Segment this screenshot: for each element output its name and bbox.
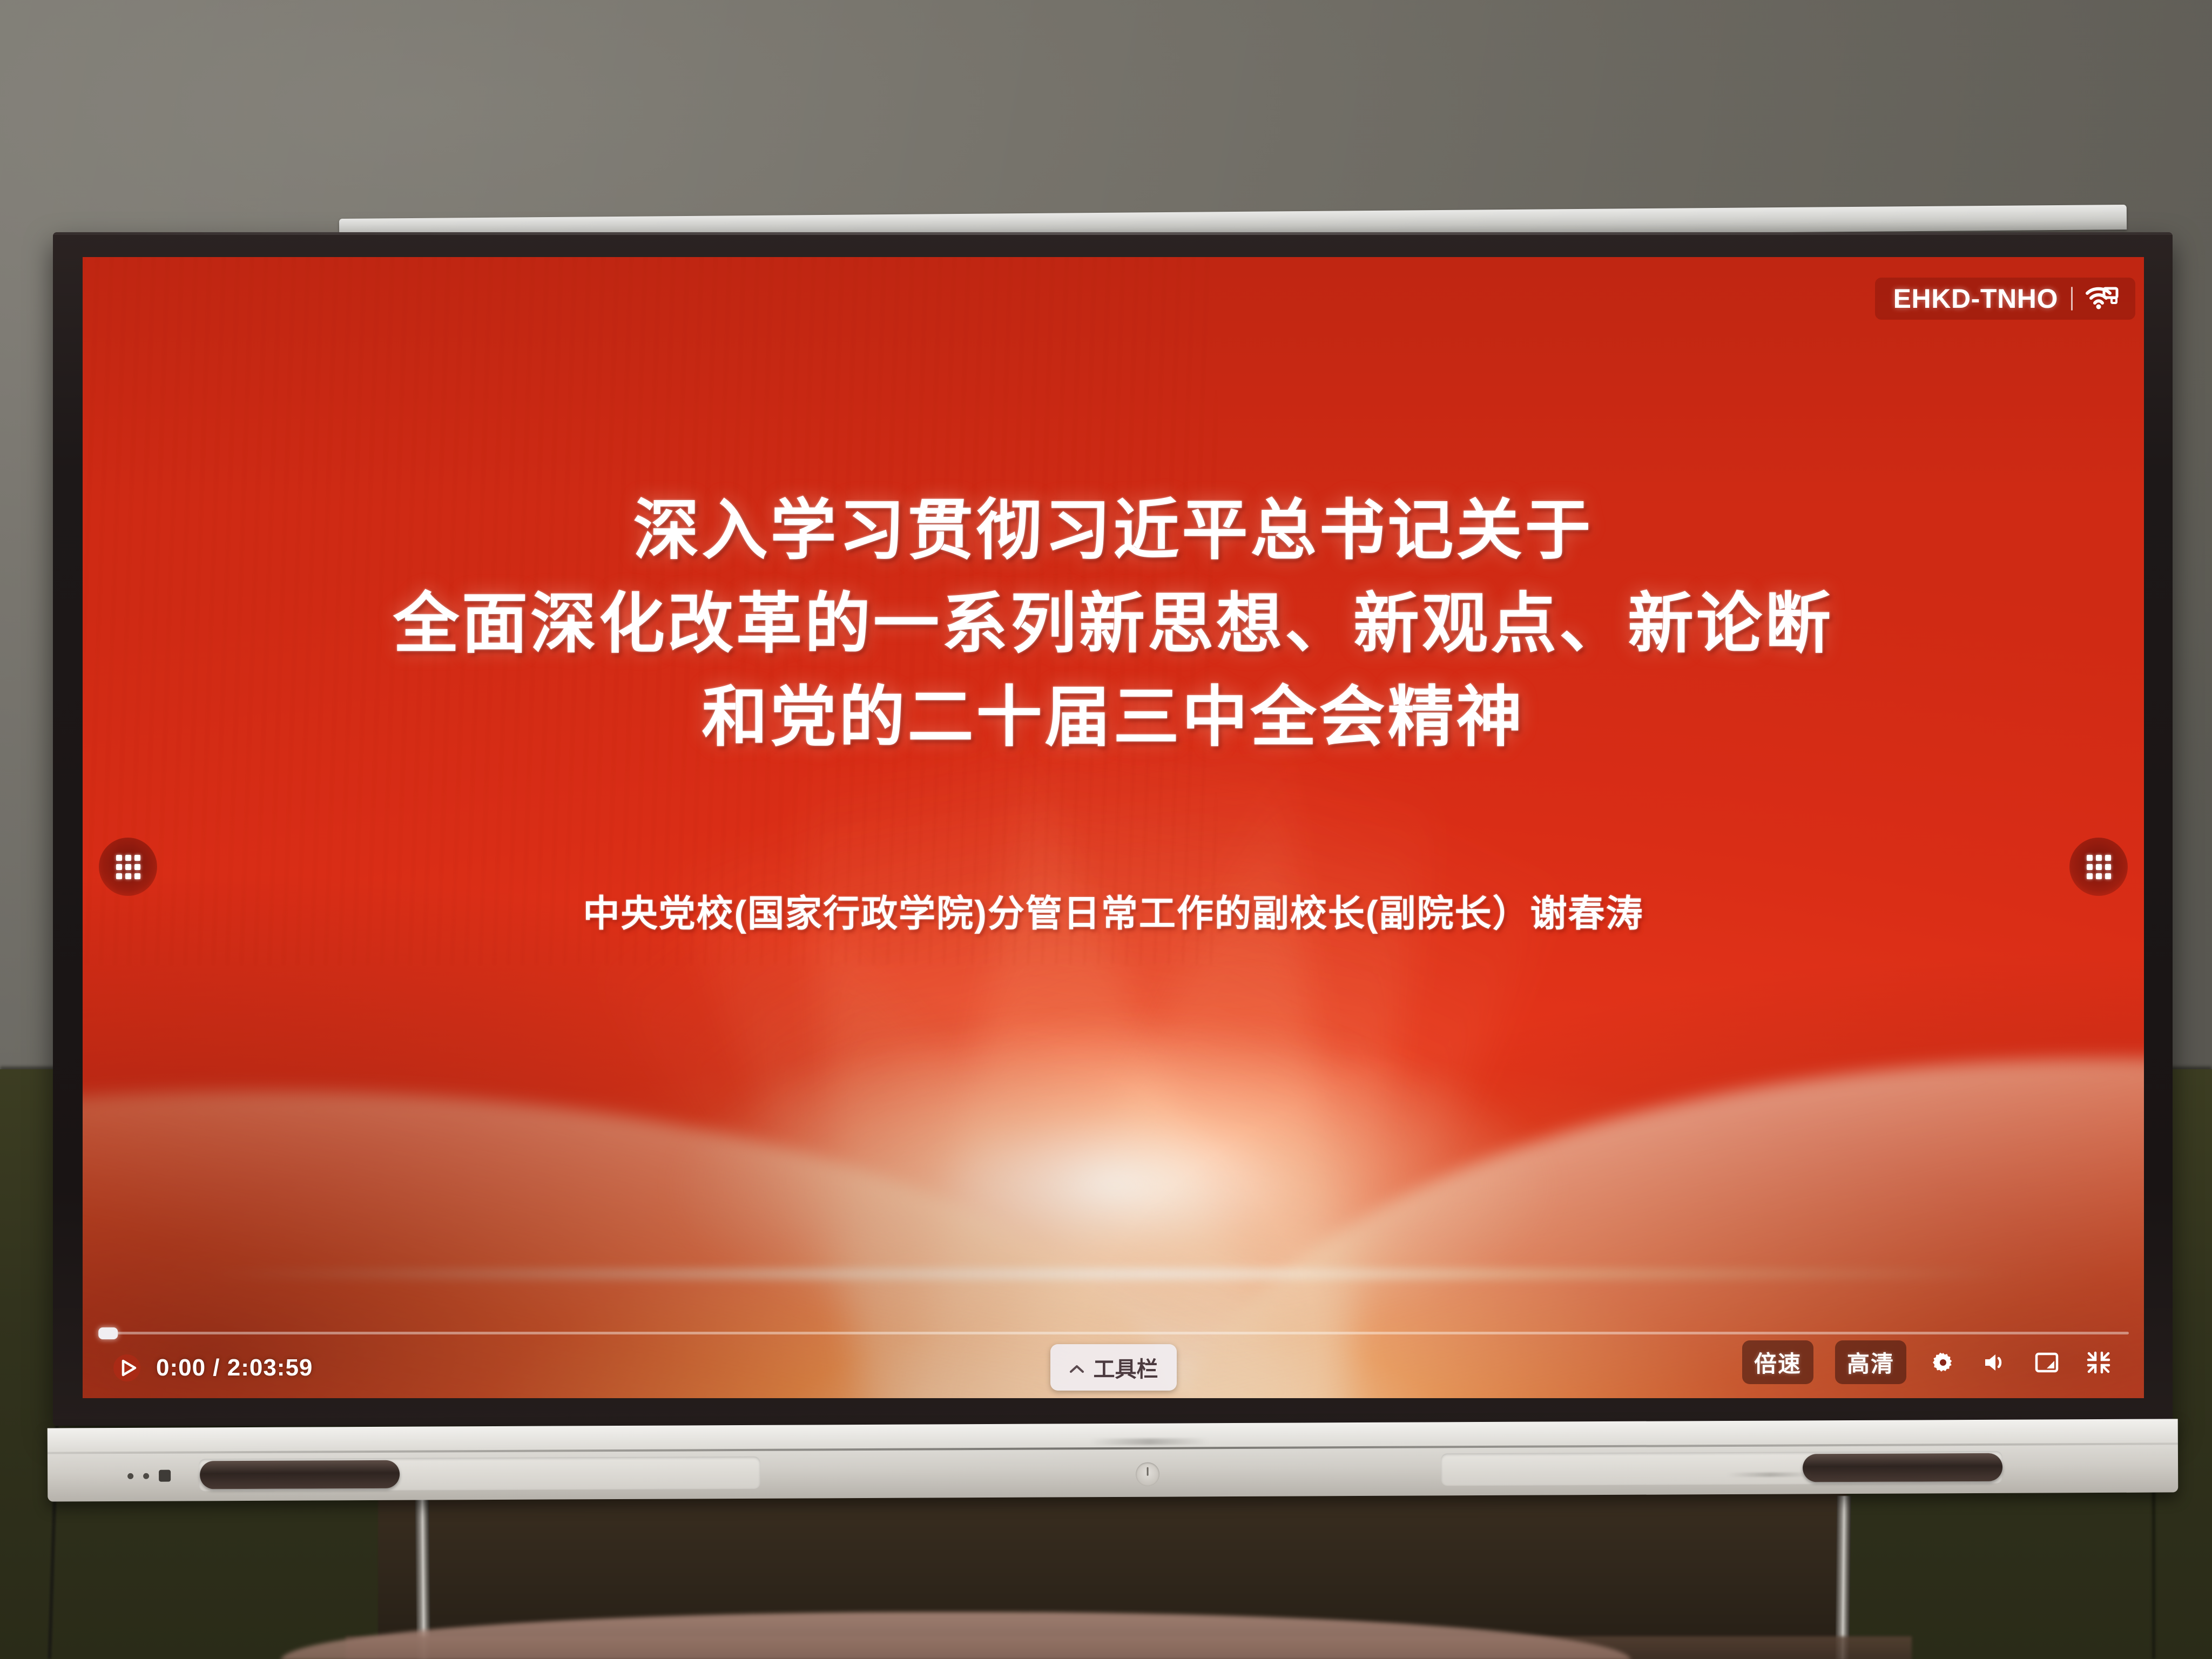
progress-bar[interactable] <box>104 1332 2129 1334</box>
display-lower-bar <box>48 1419 2179 1501</box>
side-handle-left[interactable] <box>99 838 157 896</box>
gear-icon[interactable] <box>1928 1347 1958 1378</box>
display-device: EHKD-TNHO 深入学 <box>53 232 2173 1491</box>
side-handle-right[interactable] <box>2069 838 2128 896</box>
model-label <box>1727 1472 1813 1477</box>
bezel-highlight <box>53 232 2173 235</box>
video-player-controls: 0:00 / 2:03:59 工具栏 <box>83 1290 2144 1398</box>
player-right-controls: 倍速 高清 <box>1742 1340 2114 1384</box>
stylus-pen-right[interactable] <box>1803 1453 2002 1482</box>
grid-dots-icon <box>2087 855 2111 879</box>
grid-dots-icon <box>116 855 140 879</box>
toolbar-button-label: 工具栏 <box>1094 1352 1158 1383</box>
toolbar-toggle-wrapper: 工具栏 <box>1050 1344 1177 1391</box>
brand-mark <box>1090 1438 1209 1445</box>
display-bezel: EHKD-TNHO 深入学 <box>53 232 2173 1426</box>
exit-fullscreen-icon[interactable] <box>2083 1347 2114 1378</box>
device-id-label: EHKD-TNHO <box>1893 283 2058 314</box>
room-scene: EHKD-TNHO 深入学 <box>0 0 2212 1659</box>
play-icon[interactable] <box>112 1353 142 1383</box>
horizon-streak <box>206 1270 2020 1278</box>
chevron-up-icon <box>1069 1355 1085 1380</box>
screen-content: EHKD-TNHO 深入学 <box>83 257 2144 1398</box>
background-streaks <box>83 257 1216 965</box>
status-divider <box>2071 287 2073 311</box>
time-display: 0:00 / 2:03:59 <box>156 1354 313 1381</box>
toolbar-button[interactable]: 工具栏 <box>1050 1344 1177 1391</box>
wifi-cast-icon[interactable] <box>2086 285 2119 313</box>
player-left-controls: 0:00 / 2:03:59 <box>112 1353 313 1383</box>
pip-icon[interactable] <box>2032 1347 2062 1378</box>
volume-icon[interactable] <box>1980 1347 2010 1378</box>
quality-button[interactable]: 高清 <box>1835 1340 1906 1384</box>
progress-thumb[interactable] <box>98 1327 118 1339</box>
status-bar: EHKD-TNHO <box>1875 278 2135 320</box>
indicator-lights <box>127 1470 171 1482</box>
stylus-pen-left[interactable] <box>200 1460 400 1489</box>
stand-leg-right <box>1835 1496 1851 1659</box>
power-button[interactable] <box>1136 1462 1159 1486</box>
playback-speed-button[interactable]: 倍速 <box>1742 1340 1813 1384</box>
